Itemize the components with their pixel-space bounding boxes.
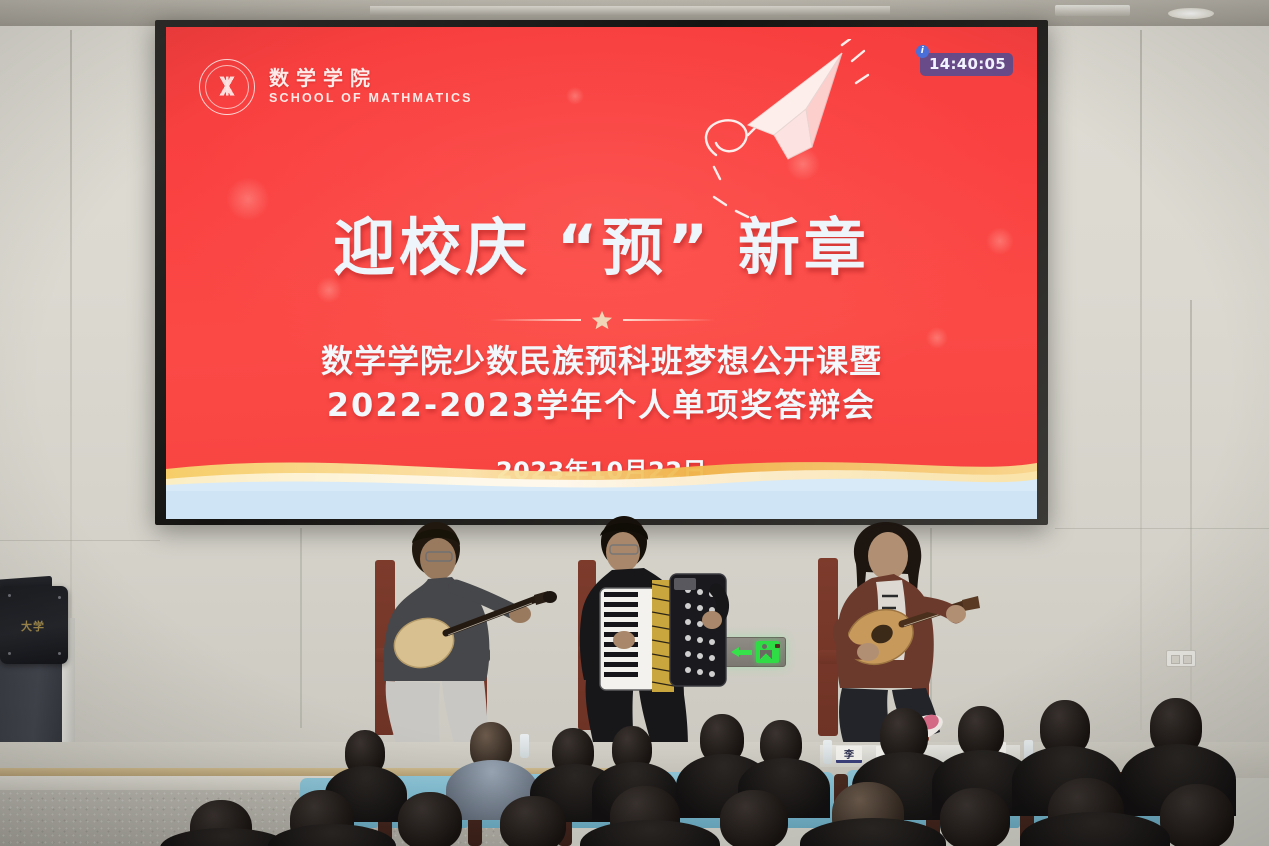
info-badge-icon: i <box>916 45 929 58</box>
podium-name-plate: 大学 <box>0 586 68 664</box>
audience-head <box>500 796 566 846</box>
wave-decoration <box>166 439 1037 519</box>
presentation-subtitle: 数学学院少数民族预科班梦想公开课暨 2022-2023学年个人单项奖答辩会 <box>166 339 1037 427</box>
ceiling-fixture-box <box>1055 5 1130 16</box>
logo-english-name: SCHOOL OF MATHMATICS <box>269 92 473 106</box>
university-seal-icon <box>199 59 255 115</box>
logo-chinese-name: 数学学院 <box>269 68 473 90</box>
audience-head <box>720 790 788 846</box>
subtitle-line-2: 2022-2023学年个人单项奖答辩会 <box>166 383 1037 427</box>
presentation-main-title: 迎校庆 “预” 新章 <box>166 217 1037 279</box>
name-placard: 李 <box>836 746 862 763</box>
bokeh-dot <box>226 177 270 221</box>
audience-head <box>1160 784 1234 846</box>
subtitle-line-1: 数学学院少数民族预科班梦想公开课暨 <box>166 339 1037 383</box>
divider-line-right <box>623 319 715 321</box>
star-icon <box>591 309 613 331</box>
paper-plane-icon <box>656 39 876 229</box>
timestamp-value: 14:40:05 <box>929 55 1006 73</box>
ceiling-light-icon <box>1168 8 1214 19</box>
podium-plate-text: 大学 <box>2 618 64 634</box>
wall-panel-line <box>300 528 302 728</box>
bokeh-dot <box>566 87 584 105</box>
divider-line-left <box>489 319 581 321</box>
led-presentation-screen: 数学学院 SCHOOL OF MATHMATICS i 14:40:05 <box>166 27 1037 519</box>
wall-panel-line <box>1055 528 1269 529</box>
star-divider <box>166 309 1037 331</box>
timestamp-overlay: i 14:40:05 <box>920 53 1013 76</box>
water-bottle <box>520 734 529 758</box>
power-outlet-icon <box>1166 650 1196 667</box>
school-logo: 数学学院 SCHOOL OF MATHMATICS <box>199 59 473 115</box>
indicator-led-icon <box>775 644 780 648</box>
audience-head <box>940 788 1010 846</box>
water-bottle <box>823 740 832 764</box>
audience-head <box>398 792 462 846</box>
ceiling-rail <box>370 6 890 16</box>
wall-seam <box>1140 30 1142 730</box>
conference-photo-scene: 数学学院 SCHOOL OF MATHMATICS i 14:40:05 <box>0 0 1269 846</box>
wall-panel-line <box>0 540 160 541</box>
performer-accordion-player <box>566 512 741 747</box>
performer-dombra-player <box>368 515 568 750</box>
